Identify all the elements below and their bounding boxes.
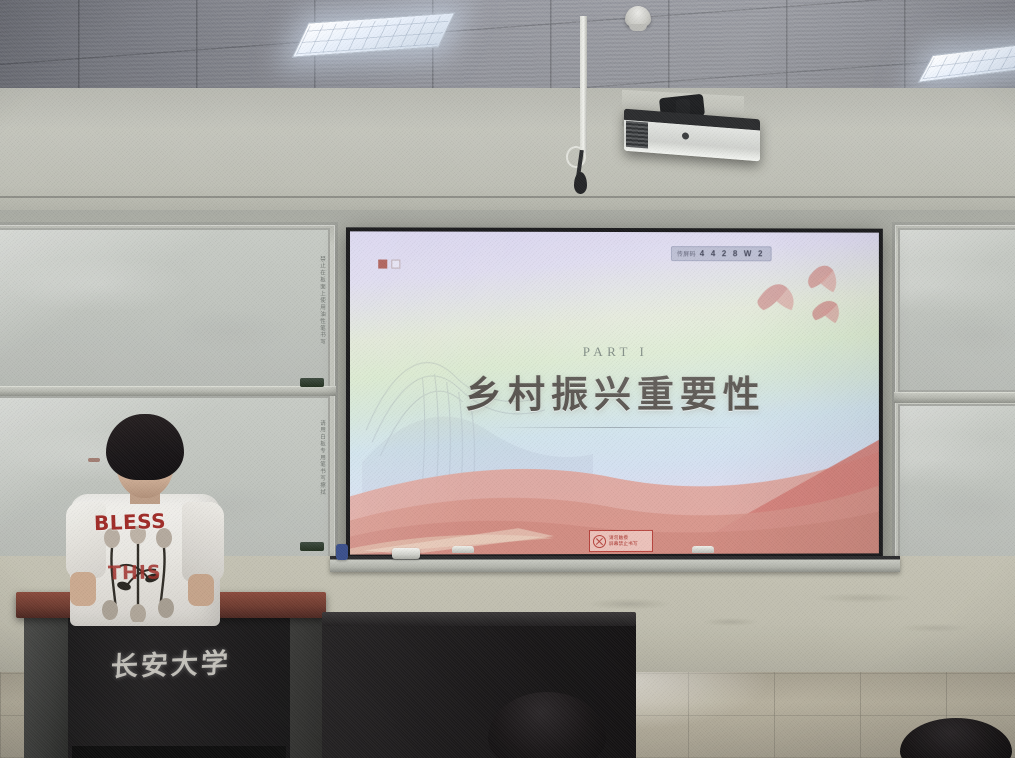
podium-base [72,746,286,758]
front-row-desk-top [322,612,636,626]
hanging-microphone-icon [572,150,588,202]
cast-code-label: 传屏码 [677,249,696,258]
smoke-detector-icon [625,6,651,28]
presenter-student: BLESS THIS [64,414,224,624]
classroom-scene: 禁止在板面上使用油性笔书写 请用白板专用笔书写擦拭 [0,0,1015,758]
whiteboard-right-rail [894,392,1015,403]
presenter-sleeve-right [182,502,224,582]
tray-marker-2[interactable] [692,546,714,553]
podium-engraving-text: 长安大学 [110,640,232,683]
slide-part-label: PART I [350,344,879,360]
presenter-arm-left [70,572,96,606]
tray-eraser-1[interactable] [392,548,420,559]
presenter-hair [106,414,184,480]
whiteboard-notice-text-upper: 禁止在板面上使用油性笔书写 [318,256,326,360]
whiteboard-notice-text-lower: 请用白板专用笔书写擦拭 [318,420,326,524]
whiteboard-right-upper-panel[interactable] [898,228,1015,392]
whiteboard-right-lower-panel[interactable] [898,404,1015,562]
whiteboard-left-rail [0,386,336,396]
slide-title-block: PART I 乡村振兴重要性 [350,344,879,428]
slide-title-underline [490,427,740,428]
whiteboard-left-upper-panel[interactable] [0,228,330,388]
slide-title: 乡村振兴重要性 [350,364,879,418]
projection-screen: 传屏码 4 4 2 8 W 2 PART I 乡村振兴重要性 请勿触摸 屏幕禁止… [346,227,883,558]
presenter-arm-right [188,574,214,606]
whiteboard-left-clip-upper [300,378,324,387]
podium-nameplate: 长安大学 [96,636,246,688]
whiteboard-left-clip-lower [300,542,324,551]
upper-wall [0,88,1015,228]
screen-cast-code-badge: 传屏码 4 4 2 8 W 2 [671,246,772,261]
microphone-pole [580,16,587,154]
tshirt-text-line-2: THIS [108,562,162,585]
corner-mark-filled-icon [378,260,387,269]
warning-line-2: 屏幕禁止书写 [609,541,638,547]
corner-mark-hollow-icon [391,260,400,269]
presenter-mouth [88,458,100,462]
wall-seam [0,196,1015,198]
warning-text: 请勿触摸 屏幕禁止书写 [609,535,638,547]
presentation-slide: 传屏码 4 4 2 8 W 2 PART I 乡村振兴重要性 请勿触摸 屏幕禁止… [350,231,879,554]
screen-warning-label: 请勿触摸 屏幕禁止书写 [589,530,653,552]
podium-side-left [24,616,70,758]
tray-marker-1[interactable] [452,546,474,553]
cast-code-value: 4 4 2 8 W 2 [700,249,765,258]
tray-marker-3[interactable] [336,544,348,560]
slide-corner-marks [378,260,400,269]
circle-x-icon [593,535,606,548]
tshirt-text-line-1: BLESS [94,509,167,536]
flying-birds-illustration [752,254,861,334]
